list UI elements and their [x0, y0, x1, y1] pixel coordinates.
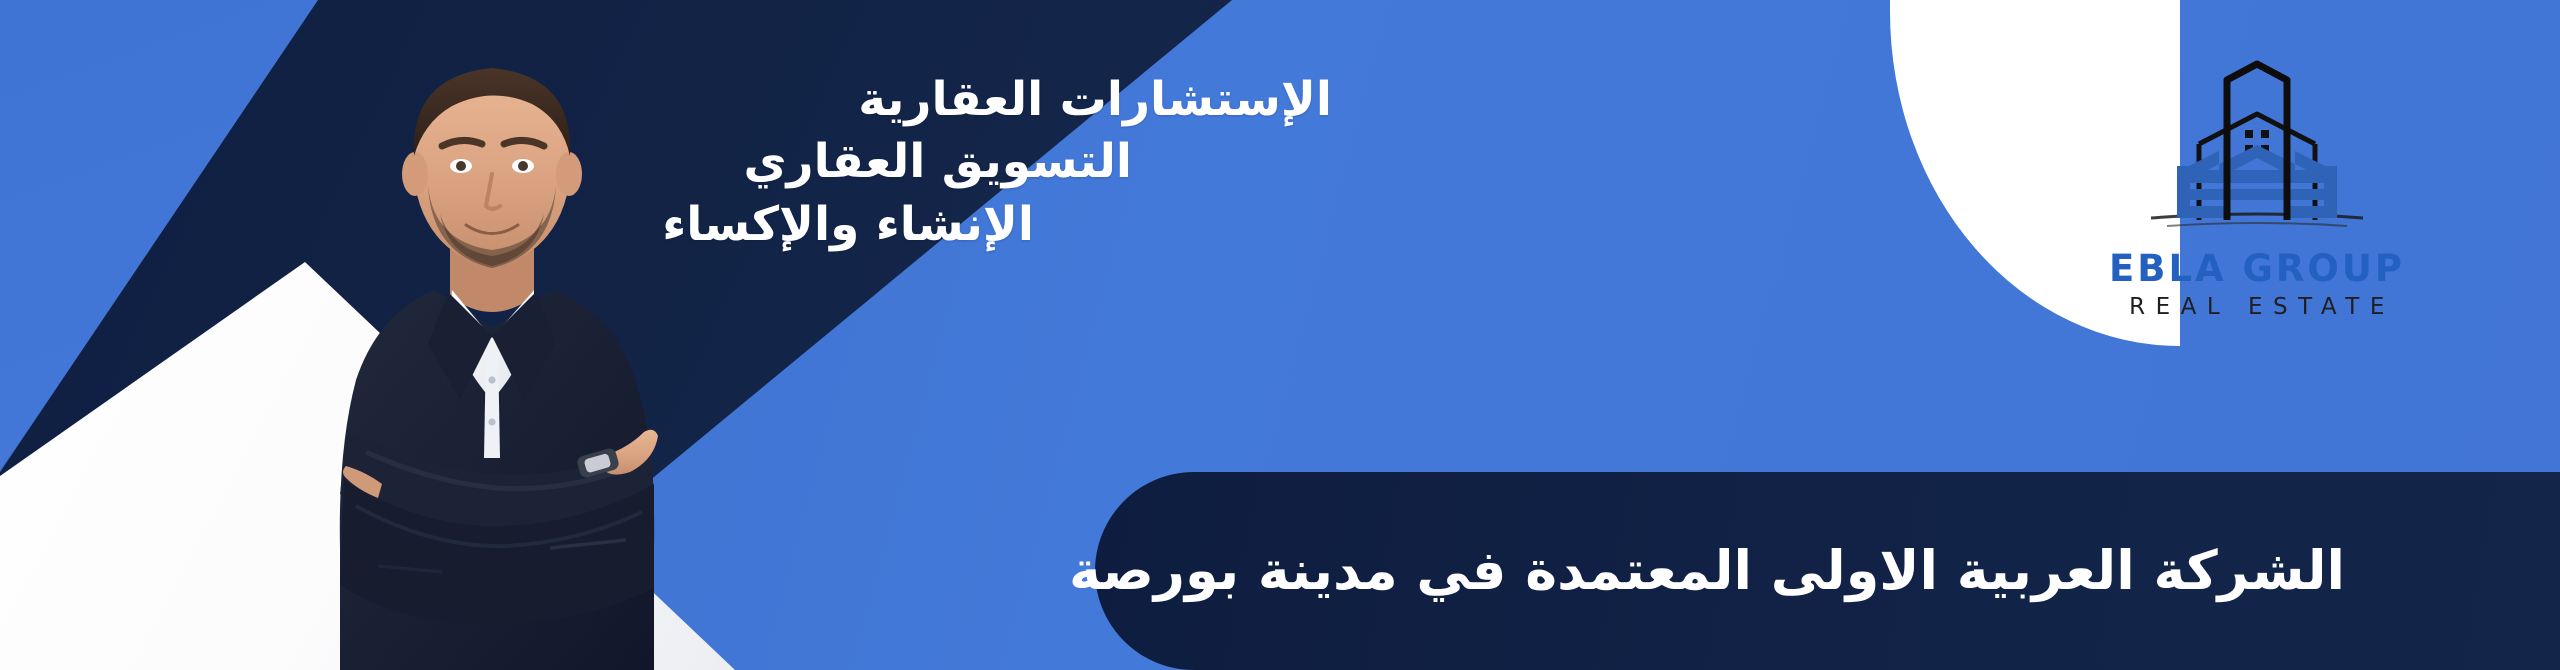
services-list: الإستشارات العقارية التسويق العقاري الإن… — [0, 0, 2060, 420]
tower-building-icon — [2107, 52, 2407, 248]
tagline-text: الشركة العربية الاولى المعتمدة في مدينة … — [1069, 544, 2345, 598]
ebla-group-logo: EBLA GROUP REAL ESTATE — [2042, 52, 2472, 324]
service-item-1: الإستشارات العقارية — [858, 76, 1332, 123]
ebla-group-banner: الإستشارات العقارية التسويق العقاري الإن… — [0, 0, 2560, 670]
service-item-3: الإنشاء والإكساء — [662, 201, 1034, 248]
tagline-pill: الشركة العربية الاولى المعتمدة في مدينة … — [1095, 472, 2560, 670]
service-item-2: التسويق العقاري — [743, 138, 1132, 185]
logo-subtitle: REAL ESTATE — [2119, 296, 2395, 319]
logo-title: EBLA GROUP — [2109, 250, 2405, 287]
